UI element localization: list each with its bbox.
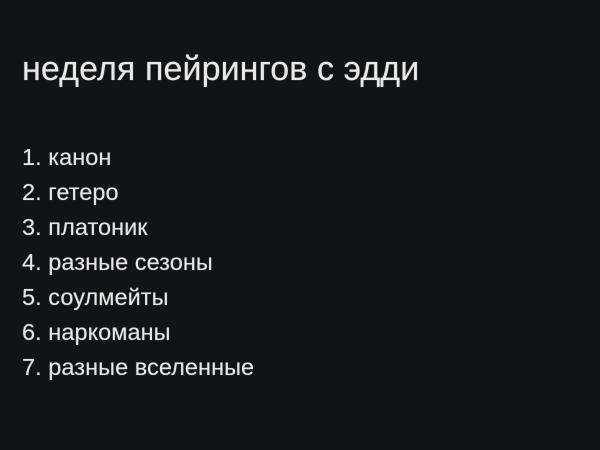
list-item-label: разные вселенные [48,354,254,380]
list-item-label: разные сезоны [48,249,213,275]
pairing-list: 1. канон 2. гетеро 3. платоник 4. разные… [22,140,542,385]
list-item: 6. наркоманы [22,315,542,350]
list-item-index: 6. [22,319,42,345]
list-item-label: гетеро [48,179,118,205]
list-item: 2. гетеро [22,175,542,210]
page-title: неделя пейрингов с эдди [22,48,578,90]
list-item: 7. разные вселенные [22,350,542,385]
image-canvas: неделя пейрингов с эдди 1. канон 2. гете… [0,0,600,450]
list-item: 5. соулмейты [22,280,542,315]
list-item-index: 3. [22,214,42,240]
list-item-label: наркоманы [48,319,170,345]
list-item-label: канон [48,144,111,170]
list-item-label: платоник [48,214,147,240]
list-item: 1. канон [22,140,542,175]
list-item: 3. платоник [22,210,542,245]
list-item-index: 4. [22,249,42,275]
title-block: неделя пейрингов с эдди [22,48,578,90]
list-item-index: 2. [22,179,42,205]
list-item-index: 5. [22,284,42,310]
list-item-index: 1. [22,144,42,170]
list-item: 4. разные сезоны [22,245,542,280]
list-item-index: 7. [22,354,42,380]
list-item-label: соулмейты [48,284,168,310]
